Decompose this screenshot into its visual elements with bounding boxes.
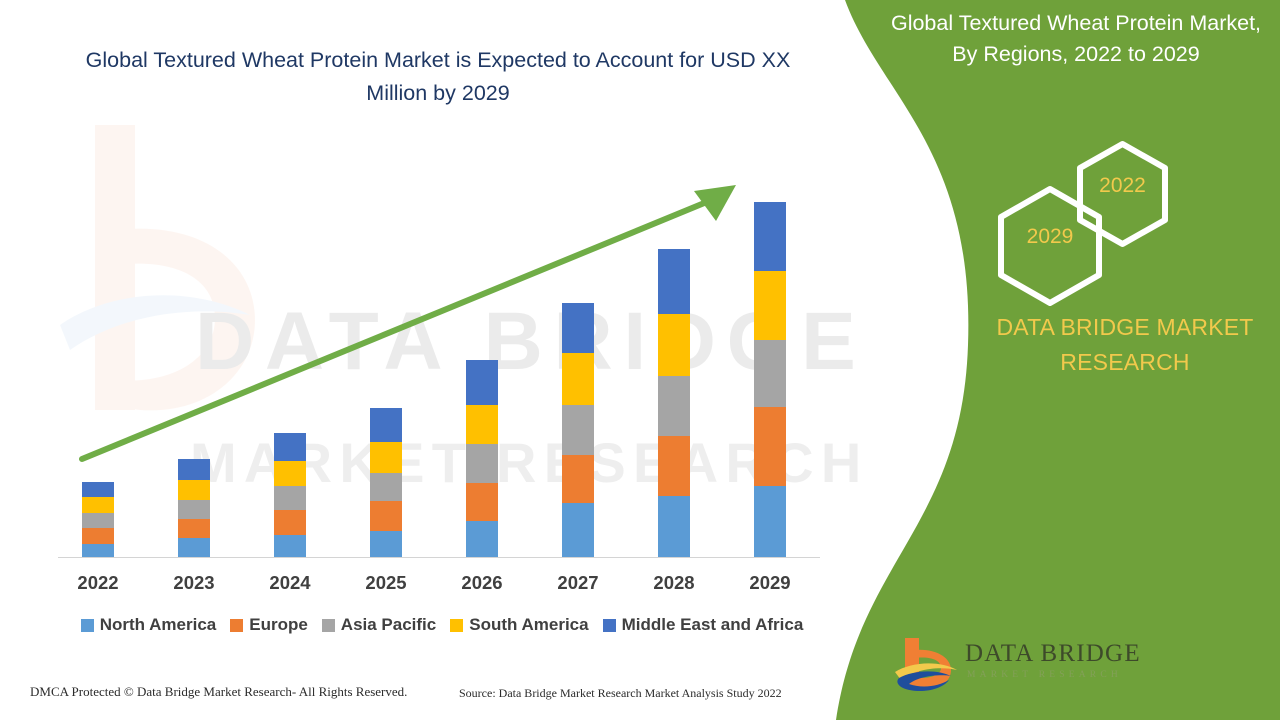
bar-segment-middle-east-and-africa[interactable] <box>274 433 306 461</box>
legend-label-south-america: South America <box>469 615 588 635</box>
chart-legend: North AmericaEuropeAsia PacificSouth Ame… <box>52 615 832 635</box>
bar-segment-north-america[interactable] <box>82 544 114 557</box>
bar-segment-south-america[interactable] <box>562 353 594 406</box>
legend-swatch-asia-pacific <box>322 619 335 632</box>
x-axis-label-2024: 2024 <box>255 572 325 594</box>
bar-segment-europe[interactable] <box>370 501 402 532</box>
bar-segment-europe[interactable] <box>562 455 594 503</box>
legend-item-europe[interactable]: Europe <box>230 615 308 635</box>
bar-segment-middle-east-and-africa[interactable] <box>178 459 210 480</box>
trend-arrow-layer <box>0 0 860 600</box>
bar-2029[interactable] <box>754 202 786 557</box>
bar-segment-middle-east-and-africa[interactable] <box>658 249 690 314</box>
x-axis-label-2028: 2028 <box>639 572 709 594</box>
bar-segment-north-america[interactable] <box>370 531 402 557</box>
bar-segment-middle-east-and-africa[interactable] <box>562 303 594 353</box>
logo-text: DATA BRIDGE <box>965 640 1141 668</box>
bar-segment-north-america[interactable] <box>562 503 594 557</box>
x-axis-labels: 20222023202420252026202720282029 <box>0 572 860 602</box>
footer-source: Source: Data Bridge Market Research Mark… <box>459 686 782 701</box>
legend-item-south-america[interactable]: South America <box>450 615 588 635</box>
bar-2026[interactable] <box>466 360 498 557</box>
legend-swatch-europe <box>230 619 243 632</box>
bar-2023[interactable] <box>178 459 210 557</box>
bar-segment-south-america[interactable] <box>658 314 690 376</box>
bar-segment-middle-east-and-africa[interactable] <box>370 408 402 442</box>
bar-segment-asia-pacific[interactable] <box>466 444 498 482</box>
bar-segment-middle-east-and-africa[interactable] <box>466 360 498 405</box>
bar-segment-asia-pacific[interactable] <box>562 405 594 455</box>
legend-item-asia-pacific[interactable]: Asia Pacific <box>322 615 436 635</box>
bar-segment-europe[interactable] <box>754 407 786 486</box>
infographic-page: DATA BRIDGE MARKET RESEARCH Global Textu… <box>0 0 1280 720</box>
bar-segment-asia-pacific[interactable] <box>274 486 306 510</box>
footer-copyright: DMCA Protected © Data Bridge Market Rese… <box>30 684 407 700</box>
logo-mark-icon <box>893 636 963 696</box>
bar-segment-europe[interactable] <box>658 436 690 496</box>
x-axis-label-2029: 2029 <box>735 572 805 594</box>
bar-segment-north-america[interactable] <box>466 521 498 557</box>
bar-segment-south-america[interactable] <box>82 497 114 513</box>
bar-segment-south-america[interactable] <box>466 405 498 444</box>
bar-segment-north-america[interactable] <box>274 535 306 557</box>
legend-swatch-middle-east-and-africa <box>603 619 616 632</box>
bar-segment-asia-pacific[interactable] <box>370 473 402 501</box>
legend-item-north-america[interactable]: North America <box>81 615 217 635</box>
bar-segment-middle-east-and-africa[interactable] <box>754 202 786 271</box>
x-axis-label-2026: 2026 <box>447 572 517 594</box>
bar-segment-europe[interactable] <box>466 483 498 521</box>
bar-segment-europe[interactable] <box>82 528 114 543</box>
bar-2028[interactable] <box>658 249 690 557</box>
legend-label-middle-east-and-africa: Middle East and Africa <box>622 615 804 635</box>
bar-segment-asia-pacific[interactable] <box>754 340 786 407</box>
bar-segment-south-america[interactable] <box>754 271 786 341</box>
bar-segment-asia-pacific[interactable] <box>178 500 210 519</box>
bar-segment-asia-pacific[interactable] <box>82 513 114 528</box>
bar-2022[interactable] <box>82 482 114 557</box>
bar-segment-south-america[interactable] <box>370 442 402 473</box>
bar-segment-europe[interactable] <box>178 519 210 538</box>
logo-subtitle: MARKET RESEARCH <box>967 670 1122 680</box>
growth-trend-arrow <box>82 185 736 459</box>
bar-2025[interactable] <box>370 408 402 557</box>
legend-swatch-south-america <box>450 619 463 632</box>
hexagon-badge-2029: 2029 <box>995 185 1105 307</box>
legend-label-asia-pacific: Asia Pacific <box>341 615 436 635</box>
data-bridge-logo: DATA BRIDGE MARKET RESEARCH <box>893 636 1103 698</box>
hexagon-badges: 2022 2029 <box>985 140 1185 285</box>
x-axis-label-2023: 2023 <box>159 572 229 594</box>
bar-2024[interactable] <box>274 433 306 557</box>
x-axis-label-2022: 2022 <box>63 572 133 594</box>
bar-segment-north-america[interactable] <box>178 538 210 557</box>
x-axis-line <box>58 557 820 558</box>
brand-name: DATA BRIDGE MARKET RESEARCH <box>960 310 1280 380</box>
bar-segment-south-america[interactable] <box>274 461 306 487</box>
legend-swatch-north-america <box>81 619 94 632</box>
legend-item-middle-east-and-africa[interactable]: Middle East and Africa <box>603 615 804 635</box>
legend-label-europe: Europe <box>249 615 308 635</box>
hexagon-label-2029: 2029 <box>995 225 1105 249</box>
legend-label-north-america: North America <box>100 615 217 635</box>
bar-segment-middle-east-and-africa[interactable] <box>82 482 114 497</box>
bar-2027[interactable] <box>562 303 594 557</box>
bar-segment-europe[interactable] <box>274 510 306 535</box>
bar-segment-asia-pacific[interactable] <box>658 376 690 436</box>
x-axis-label-2025: 2025 <box>351 572 421 594</box>
panel-title: Global Textured Wheat Protein Market, By… <box>880 8 1272 70</box>
bar-segment-south-america[interactable] <box>178 480 210 500</box>
bar-segment-north-america[interactable] <box>754 486 786 557</box>
bar-segment-north-america[interactable] <box>658 496 690 557</box>
x-axis-label-2027: 2027 <box>543 572 613 594</box>
